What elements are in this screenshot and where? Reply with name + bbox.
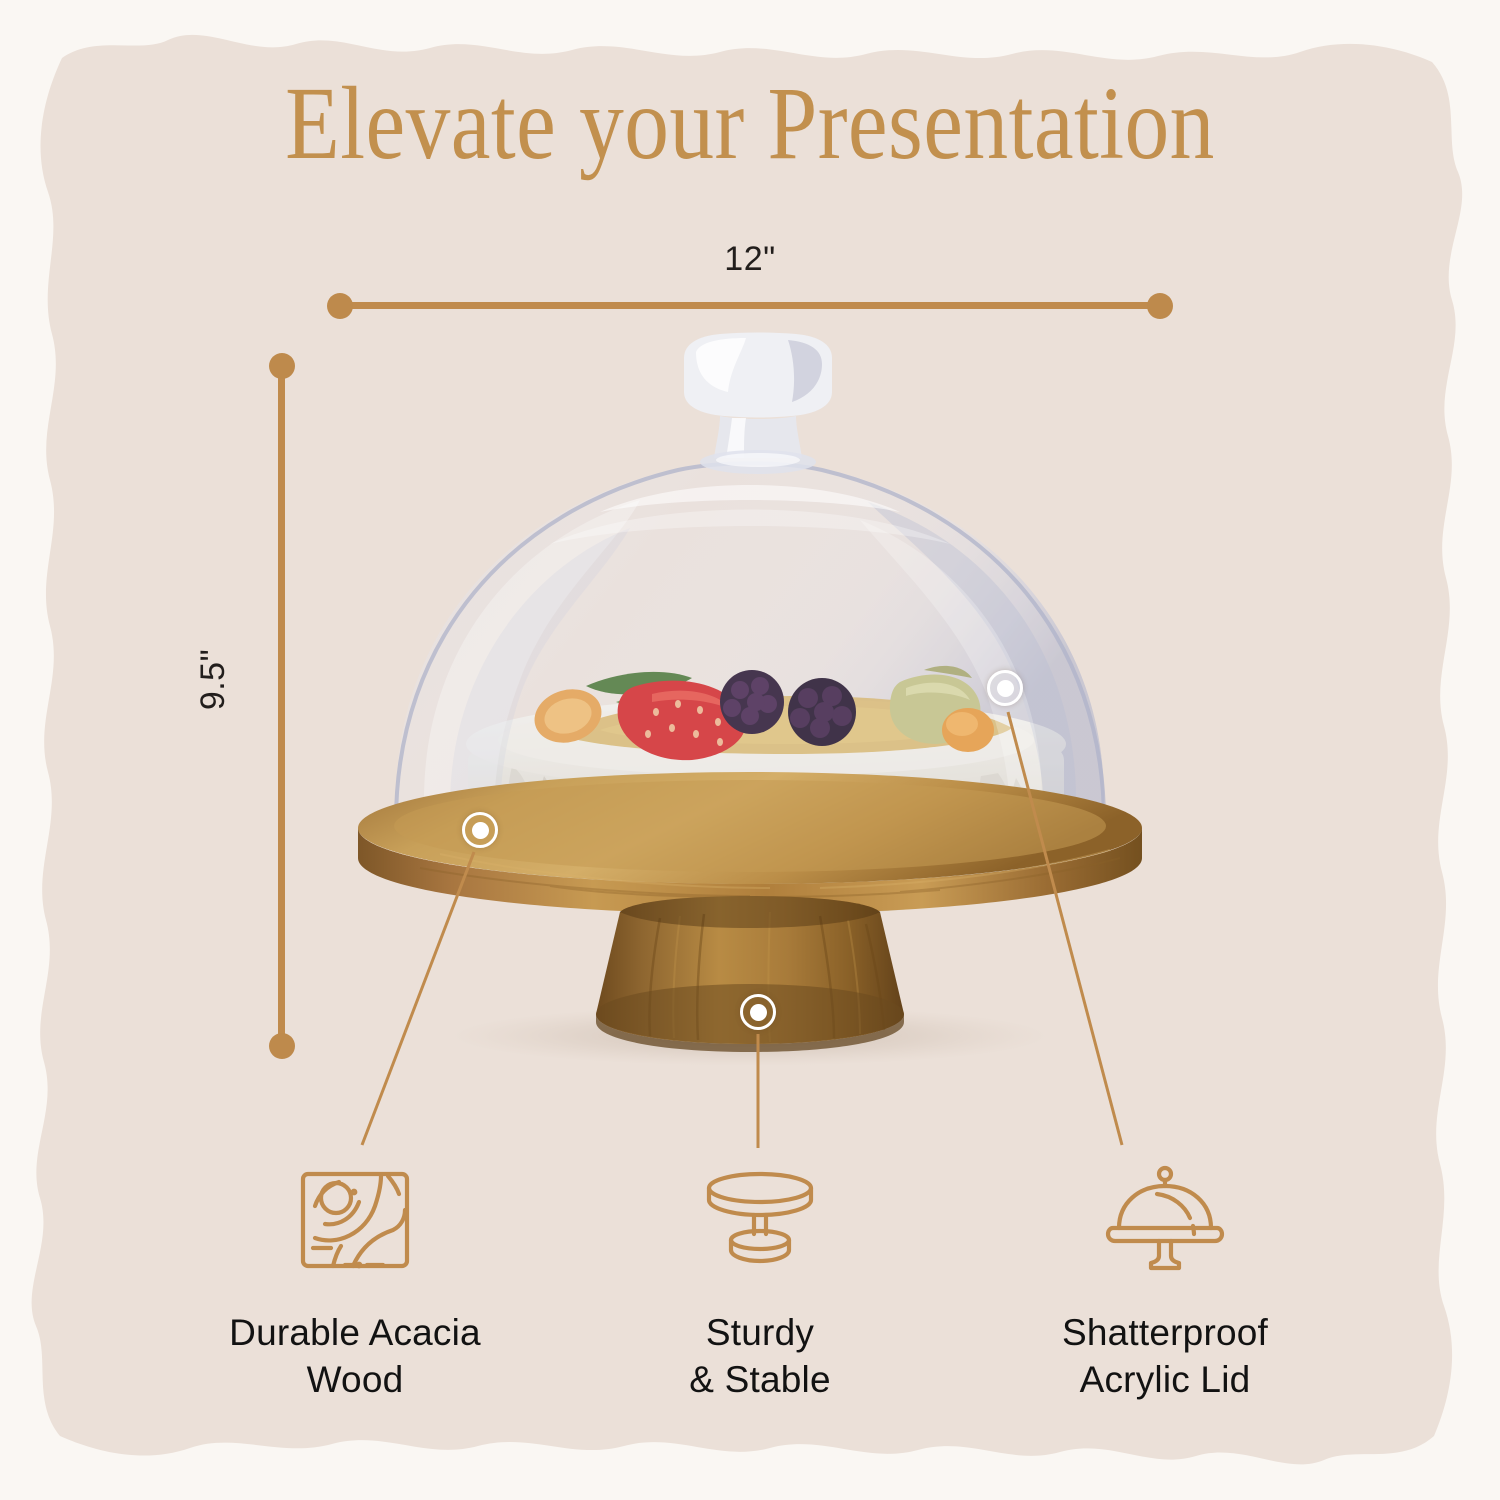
height-dimension-cap-top (269, 353, 295, 379)
height-dimension-line (278, 366, 285, 1046)
feature-caption-wood-line1: Durable Acacia (229, 1310, 481, 1357)
feature-caption-lid-line2: Acrylic Lid (1062, 1357, 1268, 1404)
callout-marker-lid[interactable] (987, 670, 1023, 706)
infographic-canvas: Elevate your Presentation 12" 9.5" (0, 0, 1500, 1500)
feature-item-lid: Shatterproof Acrylic Lid (990, 1160, 1340, 1404)
width-dimension-line (340, 302, 1160, 309)
product-image (300, 330, 1200, 1070)
crystal-knob (684, 333, 832, 475)
feature-caption-wood-line2: Wood (229, 1357, 481, 1404)
feature-caption-sturdy-line1: Sturdy (689, 1310, 830, 1357)
feature-item-sturdy: Sturdy & Stable (585, 1160, 935, 1404)
height-dimension-cap-bottom (269, 1033, 295, 1059)
feature-caption-lid: Shatterproof Acrylic Lid (1062, 1310, 1268, 1404)
cake-stand-icon (685, 1160, 835, 1280)
cloche-dome-icon (1090, 1160, 1240, 1280)
feature-caption-lid-line1: Shatterproof (1062, 1310, 1268, 1357)
feature-item-wood: Durable Acacia Wood (180, 1160, 530, 1404)
acrylic-dome-front (396, 461, 1104, 824)
height-dimension-label: 9.5" (194, 649, 233, 710)
callout-marker-pedestal[interactable] (740, 994, 776, 1030)
acacia-wood-pedestal (596, 896, 904, 1052)
feature-caption-wood: Durable Acacia Wood (229, 1310, 481, 1404)
page-title: Elevate your Presentation (105, 72, 1395, 176)
width-dimension-label: 12" (0, 240, 1500, 279)
width-dimension-cap-left (327, 293, 353, 319)
width-dimension-cap-right (1147, 293, 1173, 319)
callout-marker-wood[interactable] (462, 812, 498, 848)
feature-list: Durable Acacia Wood Sturdy & Stable (180, 1160, 1340, 1440)
wood-grain-icon (280, 1160, 430, 1280)
feature-caption-sturdy: Sturdy & Stable (689, 1310, 830, 1404)
feature-caption-sturdy-line2: & Stable (689, 1357, 830, 1404)
